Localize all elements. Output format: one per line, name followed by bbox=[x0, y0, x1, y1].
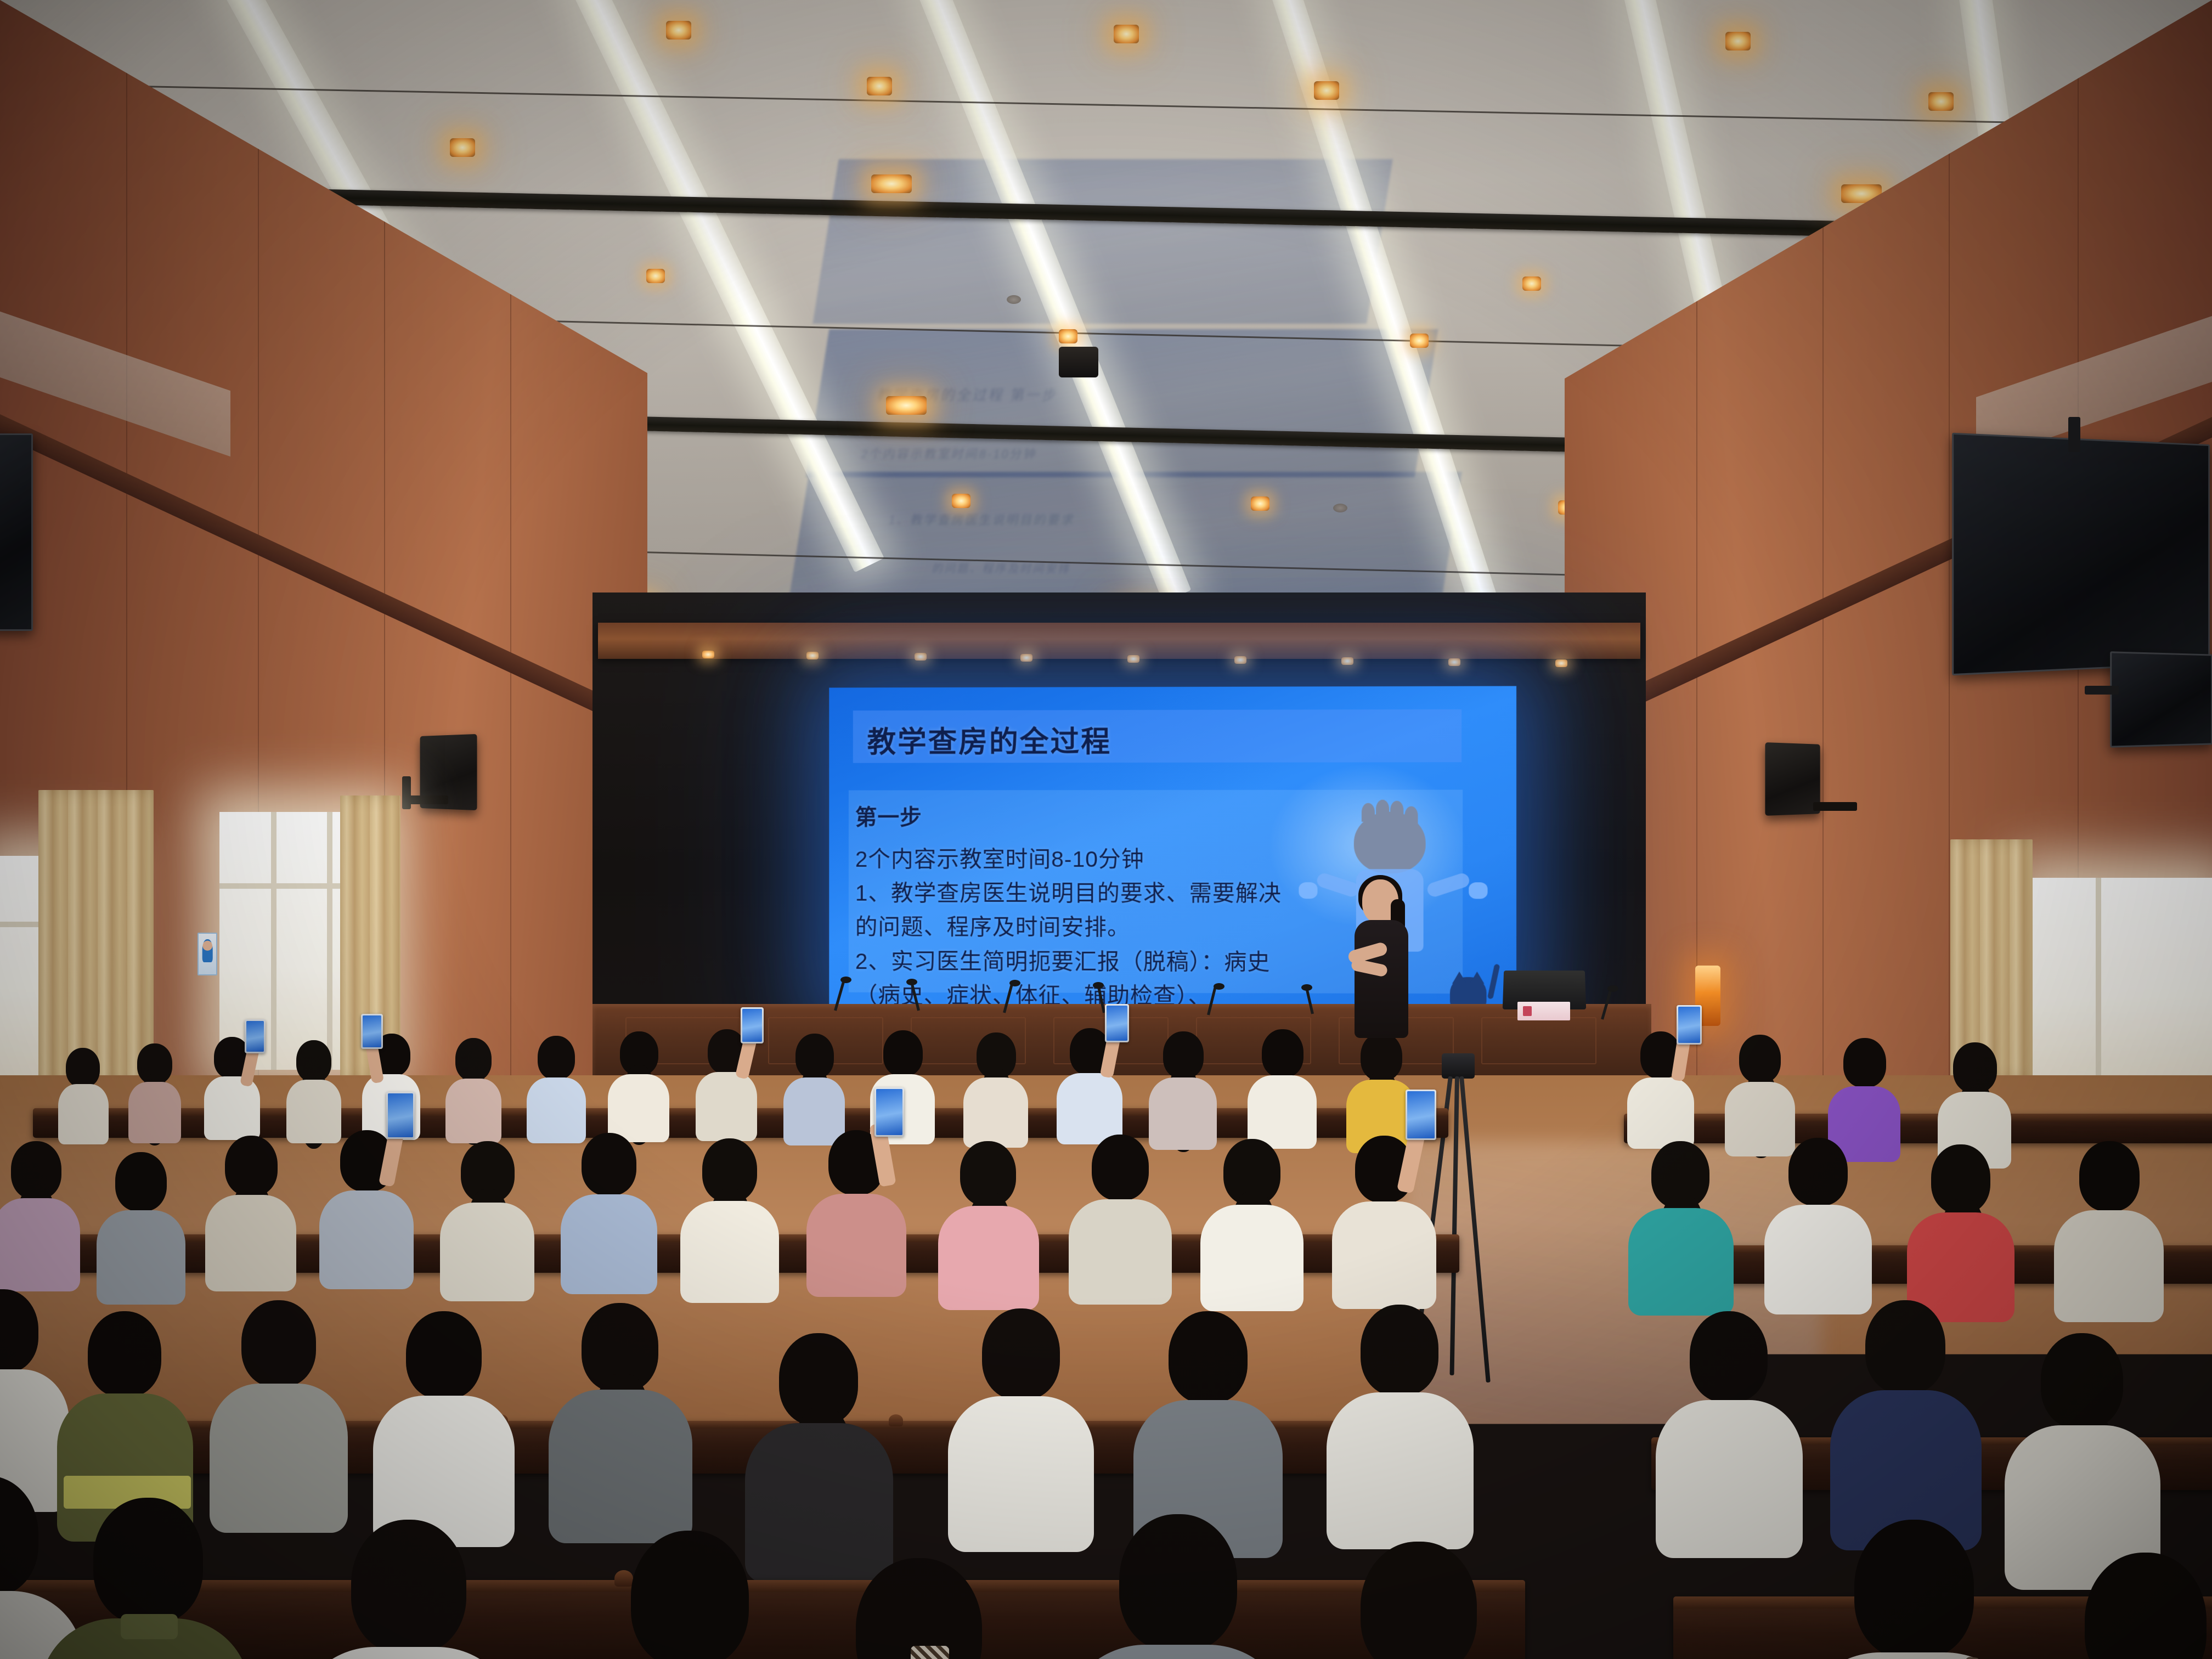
downlight bbox=[1314, 81, 1339, 100]
downlight-pair bbox=[886, 396, 927, 415]
torso bbox=[210, 1384, 348, 1533]
torso bbox=[440, 1203, 534, 1301]
torso bbox=[1248, 1075, 1317, 1149]
microphone-head bbox=[1214, 983, 1224, 990]
cartoon-boy-hair-spike bbox=[1376, 800, 1389, 819]
head bbox=[66, 1048, 100, 1087]
stage-pelmet bbox=[598, 623, 1640, 659]
phone-screen bbox=[246, 1021, 264, 1052]
head bbox=[1262, 1029, 1304, 1077]
smartphone bbox=[1677, 1005, 1702, 1045]
torso bbox=[938, 1206, 1039, 1310]
torso bbox=[745, 1423, 893, 1582]
torso bbox=[806, 1194, 906, 1297]
presenter-body bbox=[1355, 920, 1408, 1038]
head bbox=[406, 1311, 482, 1399]
torso bbox=[2054, 1210, 2164, 1322]
torso bbox=[527, 1077, 586, 1143]
downlight-pair bbox=[871, 174, 912, 193]
wood-seam bbox=[1949, 0, 1950, 1152]
cartoon-boy-hair-spike bbox=[1404, 806, 1418, 825]
head bbox=[2079, 1141, 2140, 1211]
cartoon-boy-arm bbox=[1426, 872, 1471, 899]
ceiling-reflection-text: 2个内容示教室时间8-10分钟 bbox=[860, 444, 1039, 462]
cartoon-cat-tail bbox=[1487, 964, 1500, 1000]
microphone-head bbox=[840, 977, 851, 983]
torso bbox=[1327, 1392, 1474, 1549]
torso bbox=[948, 1396, 1094, 1552]
smartphone bbox=[1406, 1090, 1436, 1140]
head bbox=[1843, 1038, 1886, 1087]
smartphone bbox=[741, 1007, 764, 1043]
torso bbox=[680, 1201, 779, 1303]
torso bbox=[97, 1210, 185, 1305]
torso bbox=[608, 1074, 669, 1142]
torso bbox=[1200, 1205, 1304, 1311]
head bbox=[883, 1030, 923, 1076]
ceiling-reflection-text: 1、教学查房医生说明目的要求 bbox=[887, 510, 1077, 528]
slide-title: 教学查房的全过程 bbox=[867, 719, 1112, 761]
head bbox=[93, 1498, 203, 1624]
torso bbox=[204, 1076, 260, 1140]
presenter bbox=[1340, 879, 1423, 1044]
torso bbox=[58, 1084, 109, 1144]
torso bbox=[1764, 1205, 1872, 1314]
pelmet-light bbox=[1341, 657, 1353, 665]
head bbox=[582, 1133, 636, 1195]
torso bbox=[1725, 1082, 1795, 1156]
monitor-mount-arm bbox=[2068, 417, 2080, 452]
cartoon-cat-ear bbox=[1452, 972, 1466, 984]
cartoon-boy-hand bbox=[1469, 882, 1487, 899]
wall-monitor-far-right bbox=[2110, 651, 2212, 748]
torso bbox=[1057, 1073, 1122, 1144]
phone-screen bbox=[1407, 1091, 1435, 1138]
pelmet-light bbox=[915, 653, 927, 661]
downlight bbox=[1059, 329, 1077, 343]
speaker-bracket bbox=[1813, 802, 1857, 811]
sprinkler-head bbox=[1333, 504, 1347, 512]
torso bbox=[1627, 1077, 1694, 1149]
cartoon-boy-hair-spike bbox=[1362, 803, 1375, 822]
head bbox=[982, 1308, 1060, 1400]
pelmet-light bbox=[702, 651, 714, 658]
torso-collar bbox=[121, 1614, 178, 1639]
poster-figure bbox=[202, 939, 213, 962]
head bbox=[1361, 1542, 1477, 1659]
torso bbox=[319, 1190, 414, 1289]
pew-knob bbox=[889, 1414, 903, 1426]
head bbox=[1690, 1311, 1768, 1402]
head bbox=[1865, 1300, 1945, 1393]
smartphone bbox=[1105, 1004, 1129, 1042]
smartphone bbox=[245, 1019, 266, 1053]
torso bbox=[1628, 1208, 1734, 1316]
pelmet-light bbox=[1234, 656, 1246, 664]
torso bbox=[1332, 1201, 1436, 1309]
torso bbox=[1656, 1400, 1803, 1558]
wall-monitor-right bbox=[1952, 433, 2210, 676]
phone-screen bbox=[363, 1015, 381, 1047]
head bbox=[88, 1311, 161, 1397]
torso bbox=[0, 1198, 80, 1291]
lecture-hall-scene: 教学查房的全过程 第一步 2个内容示教室时间8-10分钟 1、教学查房医生说明目… bbox=[0, 0, 2212, 1659]
phone-screen bbox=[1107, 1006, 1127, 1041]
head bbox=[1169, 1311, 1248, 1403]
microphone-head bbox=[906, 979, 917, 985]
pew-rail bbox=[1624, 1114, 2212, 1121]
torso bbox=[696, 1072, 757, 1141]
downlight bbox=[450, 138, 475, 157]
downlight bbox=[1251, 496, 1269, 511]
downlight bbox=[1114, 25, 1139, 43]
torso bbox=[549, 1390, 692, 1543]
downlight bbox=[646, 269, 665, 283]
head bbox=[1788, 1138, 1848, 1206]
sprinkler-head bbox=[1007, 295, 1021, 304]
head bbox=[241, 1300, 316, 1387]
pelmet-light bbox=[1020, 654, 1032, 662]
audience-area bbox=[0, 1004, 2212, 1659]
downlight bbox=[666, 21, 691, 39]
phone-screen bbox=[1678, 1007, 1700, 1043]
torso bbox=[286, 1080, 341, 1143]
pelmet-light bbox=[1127, 655, 1139, 663]
torso bbox=[205, 1195, 296, 1291]
microphone-head bbox=[1301, 984, 1312, 991]
cartoon-cat-ear bbox=[1470, 972, 1484, 984]
head bbox=[631, 1531, 749, 1659]
pelmet-light bbox=[806, 652, 819, 659]
cartoon-cat-graphic bbox=[1444, 958, 1498, 1012]
head bbox=[1092, 1135, 1149, 1200]
torso bbox=[1069, 1199, 1172, 1305]
projector bbox=[1059, 347, 1098, 377]
wall-speaker-right bbox=[1765, 742, 1820, 816]
monitor-mount-arm bbox=[2085, 686, 2119, 695]
downlight bbox=[1410, 334, 1429, 348]
downlight bbox=[1725, 32, 1751, 50]
smartphone bbox=[874, 1087, 904, 1137]
hair-clip bbox=[911, 1646, 949, 1659]
torso bbox=[1149, 1077, 1217, 1150]
phone-screen bbox=[876, 1089, 902, 1135]
microphone-head bbox=[1093, 982, 1104, 989]
pew-rail bbox=[0, 1580, 1525, 1592]
downlight bbox=[1522, 276, 1541, 291]
cartoon-boy-hair-spike bbox=[1390, 801, 1403, 820]
cartoon-boy-hand bbox=[1299, 882, 1317, 899]
head bbox=[1119, 1514, 1237, 1651]
torso bbox=[963, 1077, 1028, 1148]
torso bbox=[561, 1194, 657, 1294]
head bbox=[0, 1289, 38, 1373]
speaker-bracket bbox=[402, 776, 411, 809]
head bbox=[115, 1152, 167, 1211]
head bbox=[351, 1520, 466, 1654]
pew-knob bbox=[614, 1570, 633, 1587]
pelmet-light bbox=[1448, 658, 1460, 666]
pew-row bbox=[1624, 1114, 2212, 1143]
phone-screen bbox=[388, 1093, 413, 1137]
wall-poster bbox=[198, 933, 217, 975]
downlight bbox=[952, 494, 970, 508]
head bbox=[1854, 1520, 1974, 1659]
downlight bbox=[867, 77, 892, 95]
torso bbox=[128, 1082, 181, 1143]
smartphone bbox=[361, 1014, 383, 1049]
torso bbox=[445, 1079, 501, 1143]
head bbox=[1361, 1305, 1438, 1396]
microphone-head bbox=[1009, 980, 1020, 986]
phone-screen bbox=[742, 1009, 762, 1042]
downlight bbox=[1928, 92, 1954, 111]
smartphone bbox=[386, 1092, 415, 1139]
head bbox=[538, 1036, 575, 1080]
torso bbox=[783, 1077, 845, 1145]
wall-monitor-left bbox=[0, 433, 33, 631]
pelmet-light bbox=[1555, 659, 1567, 667]
microphone-head bbox=[1607, 985, 1618, 992]
